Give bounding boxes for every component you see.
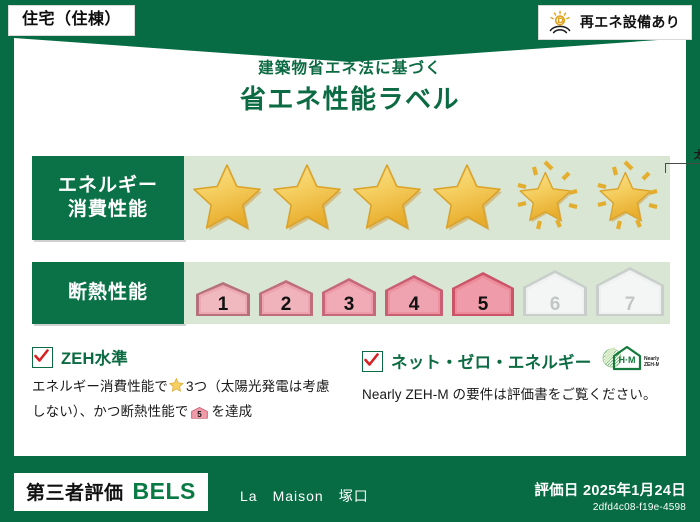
svg-text:H·M: H·M [619, 355, 636, 365]
star-rating-group [188, 159, 666, 237]
insulation-level-4-number: 4 [381, 294, 447, 316]
title-main: 省エネ性能ラベル [0, 84, 700, 115]
insulation-level-5: 5 [448, 268, 518, 323]
insulation-level-5-number: 5 [448, 294, 518, 316]
insulation-level-2-number: 2 [255, 294, 317, 316]
insulation-performance-row: 断熱性能 1 2 [32, 262, 670, 324]
evaluation-info: 評価日 2025年1月24日 2dfd4c08-f19e-4598 [534, 479, 686, 513]
insulation-level-group: 1 2 3 [192, 263, 668, 323]
title-subtitle: 建築物省エネ法に基づく [0, 60, 700, 79]
building-name: La Maison 塚口 [240, 486, 369, 506]
insulation-level-4: 4 [381, 271, 447, 323]
note-nze-header: ネット・ゼロ・エネルギー H·M Nearly ZEH-M [362, 345, 670, 377]
insulation-level-7: 7 [592, 263, 668, 323]
note-zeh-body: エネルギー消費性能で3つ（太陽光発電は考慮しない）、かつ断熱性能で5を達成 [32, 376, 340, 427]
renewable-equipment-badge: 再エネ設備あり [538, 5, 692, 40]
inline-house-badge: 5 [190, 408, 209, 423]
insulation-level-1: 1 [192, 278, 254, 323]
star-icon-2 [268, 159, 346, 237]
insulation-row-label-text: 断熱性能 [68, 281, 148, 305]
star-icon-3 [348, 159, 426, 237]
star-icon-1 [188, 159, 266, 237]
evaluation-id: 2dfd4c08-f19e-4598 [534, 502, 686, 513]
note-zeh-title: ZEH水準 [61, 345, 128, 369]
insulation-level-6-number: 6 [519, 294, 591, 316]
note-net-zero-energy: ネット・ゼロ・エネルギー H·M Nearly ZEH-M [362, 345, 670, 427]
inline-star-icon [169, 382, 185, 397]
checkbox-checked-icon [362, 351, 383, 372]
insulation-row-label: 断熱性能 [32, 262, 184, 324]
svg-text:ZEH-M: ZEH-M [644, 362, 659, 368]
insulation-row-value: 1 2 3 [184, 262, 670, 324]
bels-label: BELS [133, 478, 196, 505]
energy-performance-label: 住宅（住棟） 再エネ設備あり 建築物省エネ法に基づく 省エネ性能ラベル [0, 0, 700, 522]
renewable-badge-label: 再エネ設備あり [580, 12, 680, 32]
insulation-level-1-number: 1 [192, 294, 254, 316]
bels-third-party-badge: 第三者評価 BELS [14, 473, 208, 511]
energy-row-label: エネルギー 消費性能 [32, 156, 184, 240]
energy-row-value: 太陽光発電(自家消費)分 [184, 156, 670, 240]
svg-text:5: 5 [198, 410, 203, 419]
energy-performance-row: エネルギー 消費性能 [32, 156, 670, 240]
note-zeh-body-part1: エネルギー消費性能で [32, 379, 168, 394]
star-icon-solar-6 [588, 159, 666, 237]
insulation-level-3: 3 [318, 274, 380, 323]
evaluation-date: 評価日 2025年1月24日 [534, 479, 686, 500]
sun-solar-icon [547, 10, 573, 34]
insulation-level-7-number: 7 [592, 294, 668, 316]
footnotes-section: ZEH水準 エネルギー消費性能で3つ（太陽光発電は考慮しない）、かつ断熱性能で5… [32, 345, 670, 427]
star-icon-4 [428, 159, 506, 237]
energy-row-label-line2: 消費性能 [68, 198, 148, 222]
insulation-level-2: 2 [255, 276, 317, 323]
note-nze-body: Nearly ZEH-M の要件は評価書をご覧ください。 [362, 384, 670, 406]
note-nze-title: ネット・ゼロ・エネルギー [391, 349, 591, 373]
checkbox-checked-icon [32, 347, 53, 368]
note-zeh-standard: ZEH水準 エネルギー消費性能で3つ（太陽光発電は考慮しない）、かつ断熱性能で5… [32, 345, 340, 427]
zeh-m-logo-icon: H·M Nearly ZEH-M [601, 345, 659, 377]
energy-row-label-line1: エネルギー [58, 174, 158, 198]
note-zeh-header: ZEH水準 [32, 345, 340, 369]
building-type-tab: 住宅（住棟） [8, 5, 135, 36]
note-zeh-body-part3: を達成 [211, 404, 252, 419]
insulation-level-6: 6 [519, 266, 591, 323]
third-party-label: 第三者評価 [26, 478, 124, 505]
insulation-level-3-number: 3 [318, 294, 380, 316]
label-title-block: 建築物省エネ法に基づく 省エネ性能ラベル [0, 60, 700, 115]
star-icon-solar-5 [508, 159, 586, 237]
